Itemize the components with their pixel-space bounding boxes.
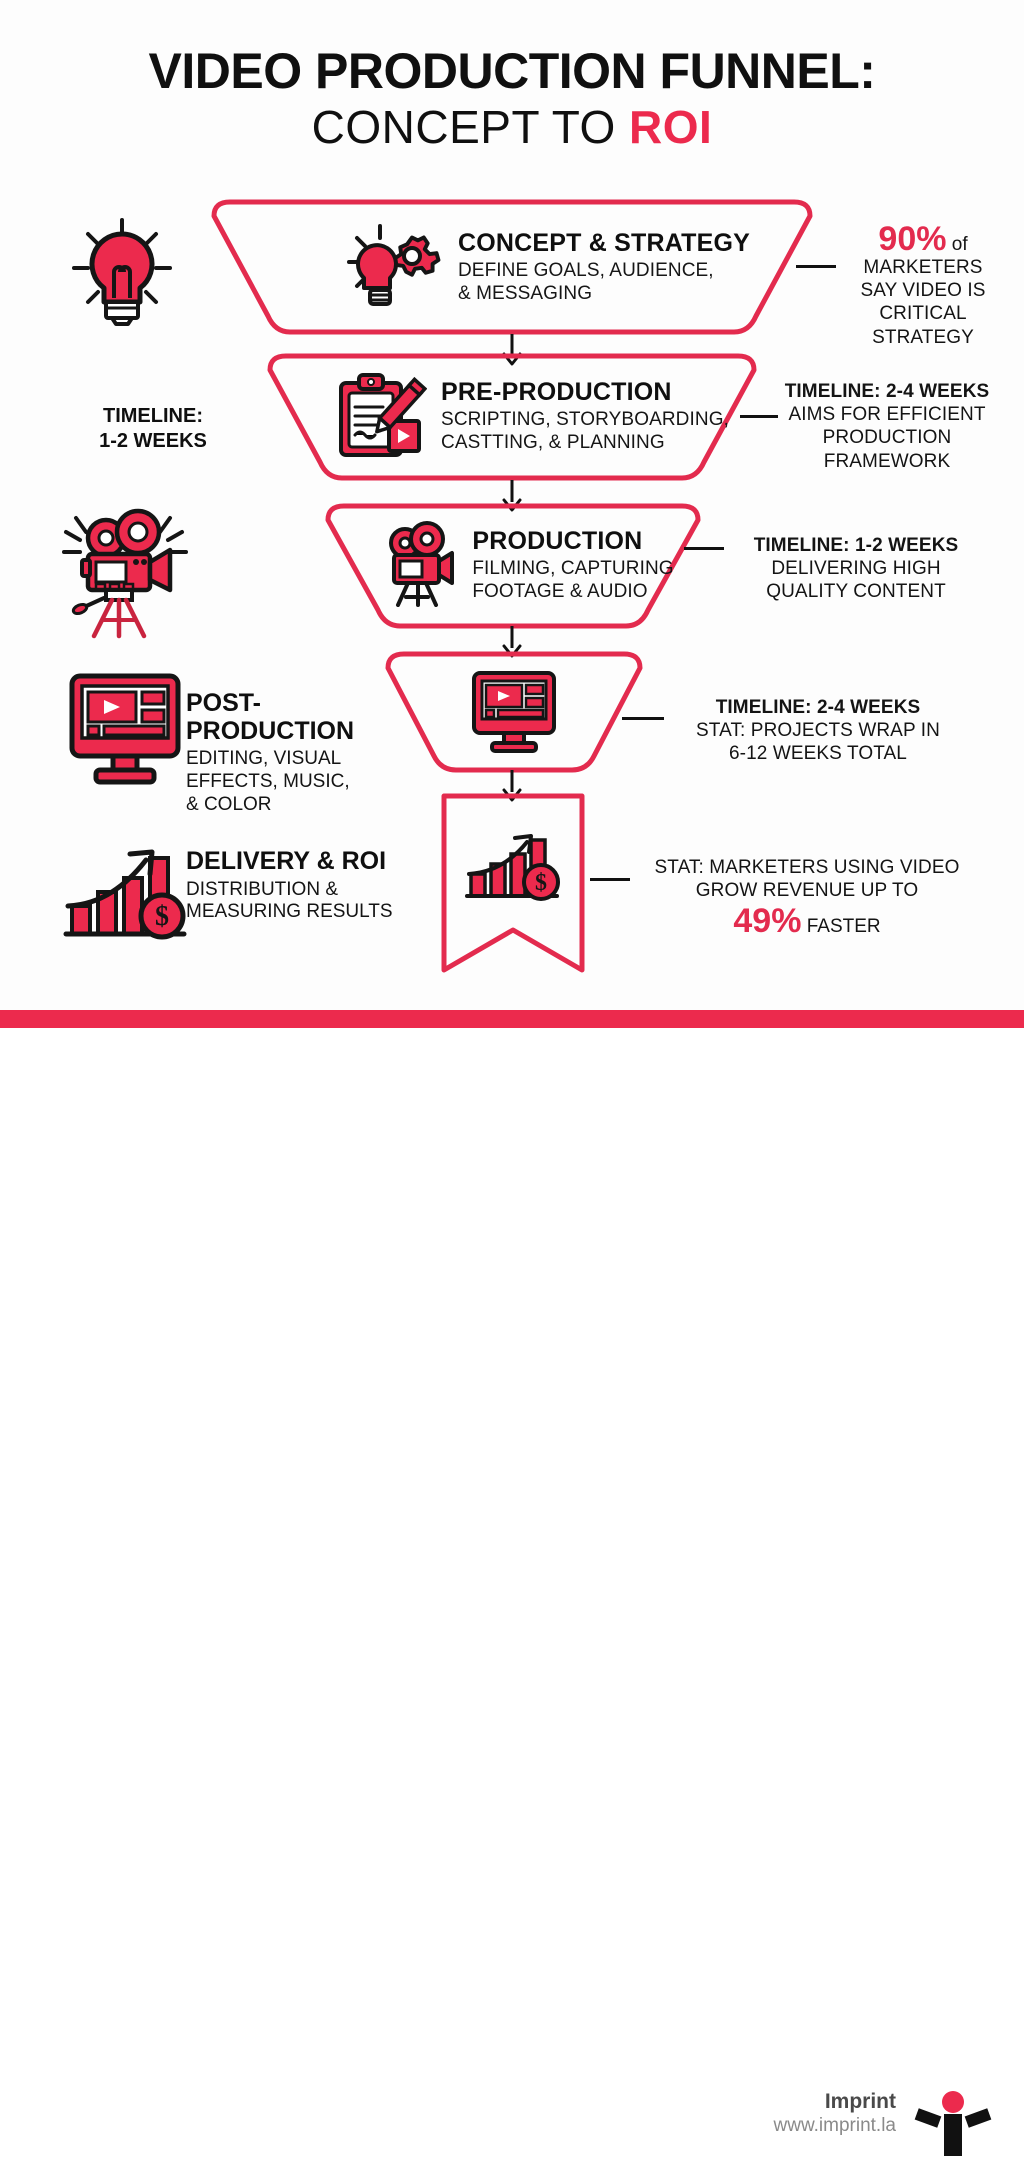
svg-text:$: $ bbox=[535, 870, 547, 896]
infographic-page: VIDEO PRODUCTION FUNNEL: CONCEPT TO ROI bbox=[0, 0, 1024, 1154]
stat-stage-5-big: 49% bbox=[733, 902, 801, 940]
title-line-2: CONCEPT TO ROI bbox=[0, 96, 1024, 158]
footer: Imprint www.imprint.la bbox=[0, 1028, 1024, 1154]
stat-stage-5: STAT: MARKETERS USING VIDEO GROW REVENUE… bbox=[612, 856, 1002, 938]
stat-stage-1-headline: 90% of bbox=[828, 222, 1018, 256]
stat-stage-1-big-suffix: of bbox=[946, 234, 967, 255]
stat-stage-4: TIMELINE: 2-4 WEEKS STAT: PROJECTS WRAP … bbox=[648, 696, 988, 766]
stat-stage-1-big: 90% bbox=[878, 220, 946, 258]
stat-stage-3: TIMELINE: 1-2 WEEKS DELIVERING HIGH QUAL… bbox=[706, 534, 1006, 604]
stat-stage-3-lines: DELIVERING HIGH QUALITY CONTENT bbox=[706, 557, 1006, 603]
stat-stage-4-lines: STAT: PROJECTS WRAP IN 6-12 WEEKS TOTAL bbox=[648, 719, 988, 765]
stage-3-title: PRODUCTION bbox=[472, 528, 673, 556]
brand-name: Imprint bbox=[774, 2090, 896, 2114]
stage-3-text: PRODUCTION FILMING, CAPTURING FOOTAGE & … bbox=[472, 528, 673, 604]
label-stage-delivery-roi: DELIVERY & ROI DISTRIBUTION & MEASURING … bbox=[186, 848, 426, 924]
timeline-left-text: TIMELINE: 1-2 WEEKS bbox=[58, 404, 248, 454]
brand-block: Imprint www.imprint.la bbox=[774, 2090, 896, 2138]
video-editor-monitor-icon-left bbox=[58, 666, 193, 796]
stat-stage-1-lines: MARKETERS SAY VIDEO IS CRITICAL STRATEGY bbox=[828, 256, 1018, 349]
stage-1-title: CONCEPT & STRATEGY bbox=[458, 230, 750, 258]
lightbulb-gear-icon bbox=[344, 218, 444, 319]
stat-stage-2: TIMELINE: 2-4 WEEKS AIMS FOR EFFICIENT P… bbox=[756, 380, 1018, 473]
lightbulb-icon bbox=[62, 216, 182, 331]
funnel-stage-delivery-roi[interactable]: $ bbox=[440, 792, 586, 974]
label-stage-5-desc: DISTRIBUTION & MEASURING RESULTS bbox=[186, 879, 426, 925]
label-stage-4-desc: EDITING, VISUAL EFFECTS, MUSIC, & COLOR bbox=[186, 748, 416, 816]
stage-1-text: CONCEPT & STRATEGY DEFINE GOALS, AUDIENC… bbox=[458, 230, 750, 306]
movie-camera-tripod-icon bbox=[58, 496, 193, 646]
stage-3-desc: FILMING, CAPTURING FOOTAGE & AUDIO bbox=[472, 558, 673, 604]
stat-stage-3-heading: TIMELINE: 1-2 WEEKS bbox=[706, 534, 1006, 557]
funnel-stage-concept-strategy[interactable]: CONCEPT & STRATEGY DEFINE GOALS, AUDIENC… bbox=[200, 198, 824, 338]
stat-stage-5-headline: 49% FASTER bbox=[612, 904, 1002, 938]
title-line-2-prefix: CONCEPT TO bbox=[312, 101, 629, 153]
stage-2-title: PRE-PRODUCTION bbox=[441, 379, 729, 407]
label-stage-4-title: POST- PRODUCTION bbox=[186, 690, 416, 745]
imprint-figure-logo bbox=[908, 2088, 998, 2158]
funnel-stage-post-production[interactable] bbox=[380, 650, 648, 774]
footer-red-divider bbox=[0, 1010, 1024, 1028]
brand-url[interactable]: www.imprint.la bbox=[774, 2114, 896, 2138]
label-stage-post-production: POST- PRODUCTION EDITING, VISUAL EFFECTS… bbox=[186, 690, 416, 816]
svg-text:$: $ bbox=[155, 901, 169, 932]
page-title: VIDEO PRODUCTION FUNNEL: CONCEPT TO ROI bbox=[0, 46, 1024, 158]
stat-stage-5-big-suffix: FASTER bbox=[801, 916, 880, 937]
clipboard-pencil-film-icon bbox=[335, 369, 427, 466]
stat-stage-1: 90% of MARKETERS SAY VIDEO IS CRITICAL S… bbox=[828, 222, 1018, 349]
growth-chart-dollar-icon: $ bbox=[461, 826, 565, 911]
stat-stage-2-lines: AIMS FOR EFFICIENT PRODUCTION FRAMEWORK bbox=[756, 403, 1018, 473]
title-line-1: VIDEO PRODUCTION FUNNEL: bbox=[0, 46, 1024, 96]
stat-stage-5-lines: STAT: MARKETERS USING VIDEO GROW REVENUE… bbox=[612, 856, 1002, 902]
timeline-left-pre-production: TIMELINE: 1-2 WEEKS bbox=[58, 404, 248, 454]
video-editor-monitor-icon bbox=[466, 667, 562, 758]
stage-2-desc: SCRIPTING, STORYBOARDING, CASTTING, & PL… bbox=[441, 409, 729, 455]
title-accent-roi: ROI bbox=[629, 101, 712, 153]
stage-1-desc: DEFINE GOALS, AUDIENCE, & MESSAGING bbox=[458, 260, 750, 306]
label-stage-5-title: DELIVERY & ROI bbox=[186, 848, 426, 876]
funnel-stage-production[interactable]: PRODUCTION FILMING, CAPTURING FOOTAGE & … bbox=[318, 502, 708, 630]
growth-chart-dollar-icon-left: $ bbox=[60, 838, 195, 953]
stat-stage-2-heading: TIMELINE: 2-4 WEEKS bbox=[756, 380, 1018, 403]
funnel-stage-pre-production[interactable]: PRE-PRODUCTION SCRIPTING, STORYBOARDING,… bbox=[258, 352, 766, 482]
stat-stage-4-heading: TIMELINE: 2-4 WEEKS bbox=[648, 696, 988, 719]
movie-camera-icon bbox=[378, 521, 458, 612]
stage-2-text: PRE-PRODUCTION SCRIPTING, STORYBOARDING,… bbox=[441, 379, 729, 455]
